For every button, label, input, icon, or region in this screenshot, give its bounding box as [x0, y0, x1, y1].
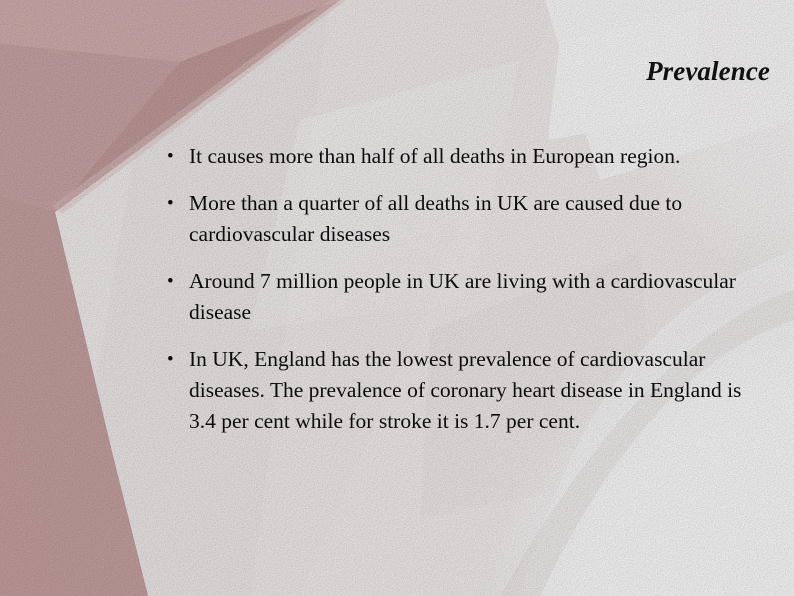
bullet-text: It causes more than half of all deaths i…	[189, 141, 768, 172]
slide-content: Prevalence • It causes more than half of…	[0, 0, 794, 596]
bullet-item: • More than a quarter of all deaths in U…	[163, 188, 768, 250]
bullet-marker-icon: •	[167, 344, 181, 375]
slide-canvas: Prevalence • It causes more than half of…	[0, 0, 794, 596]
bullet-item: • In UK, England has the lowest prevalen…	[163, 344, 768, 437]
bullet-text: In UK, England has the lowest prevalence…	[189, 344, 768, 437]
bullet-marker-icon: •	[167, 141, 181, 172]
bullet-marker-icon: •	[167, 188, 181, 219]
bullet-marker-icon: •	[167, 266, 181, 297]
slide-title: Prevalence	[0, 55, 770, 87]
bullet-text: Around 7 million people in UK are living…	[189, 266, 768, 328]
bullet-text: More than a quarter of all deaths in UK …	[189, 188, 768, 250]
bullet-list: • It causes more than half of all deaths…	[163, 141, 768, 437]
bullet-item: • Around 7 million people in UK are livi…	[163, 266, 768, 328]
bullet-item: • It causes more than half of all deaths…	[163, 141, 768, 172]
